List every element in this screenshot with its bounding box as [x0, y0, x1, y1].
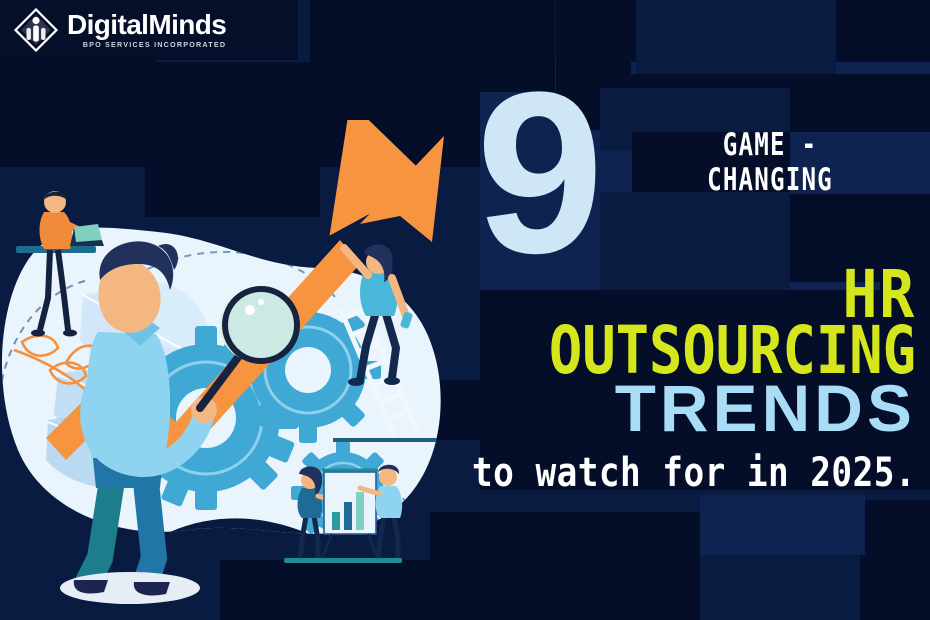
headline-number: 9: [476, 58, 598, 288]
bg-block-u: [700, 495, 865, 555]
diamond-person-icon: [14, 8, 58, 52]
brand-logo[interactable]: DigitalMinds BPO SERVICES INCORPORATED: [14, 8, 226, 52]
headline-eyebrow: GAME - CHANGING: [680, 128, 859, 198]
promo-banner: DigitalMinds BPO SERVICES INCORPORATED 9…: [0, 0, 930, 620]
headline-trends: TRENDS: [0, 375, 916, 441]
bg-block-s: [430, 512, 700, 620]
bottom-wave: [128, 518, 458, 620]
brand-tagline: BPO SERVICES INCORPORATED: [67, 41, 226, 48]
brand-wordmark: DigitalMinds BPO SERVICES INCORPORATED: [67, 11, 226, 48]
headline-eyebrow-line1: GAME -: [680, 128, 859, 163]
headline-eyebrow-line2: CHANGING: [680, 163, 859, 198]
bg-block-d: [636, 0, 836, 75]
headline-subline: to watch for in 2025.: [128, 450, 916, 496]
bg-block-t: [860, 500, 930, 620]
square-accent-2: [43, 612, 64, 620]
brand-name: DigitalMinds: [67, 11, 226, 39]
